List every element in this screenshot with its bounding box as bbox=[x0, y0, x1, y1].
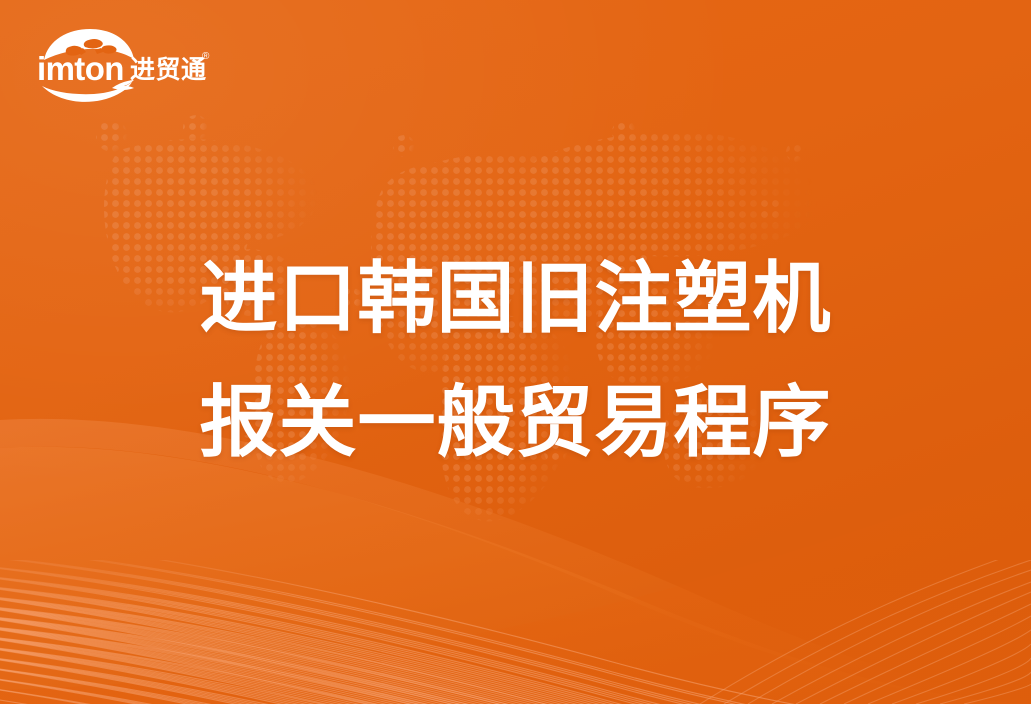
banner-canvas: imton 进贸通 ® 进口韩国旧注塑机 报关一般贸易程序 bbox=[0, 0, 1031, 704]
logo-wordmark: imton bbox=[37, 50, 124, 87]
logo-chinese-name: 进贸通 bbox=[130, 56, 207, 84]
headline-line-1: 进口韩国旧注塑机 bbox=[0, 236, 1031, 360]
headline-block: 进口韩国旧注塑机 报关一般贸易程序 bbox=[0, 236, 1031, 484]
brand-logo[interactable]: imton 进贸通 ® bbox=[34, 26, 214, 104]
headline-line-2: 报关一般贸易程序 bbox=[0, 360, 1031, 484]
registered-trademark-icon: ® bbox=[202, 51, 210, 62]
